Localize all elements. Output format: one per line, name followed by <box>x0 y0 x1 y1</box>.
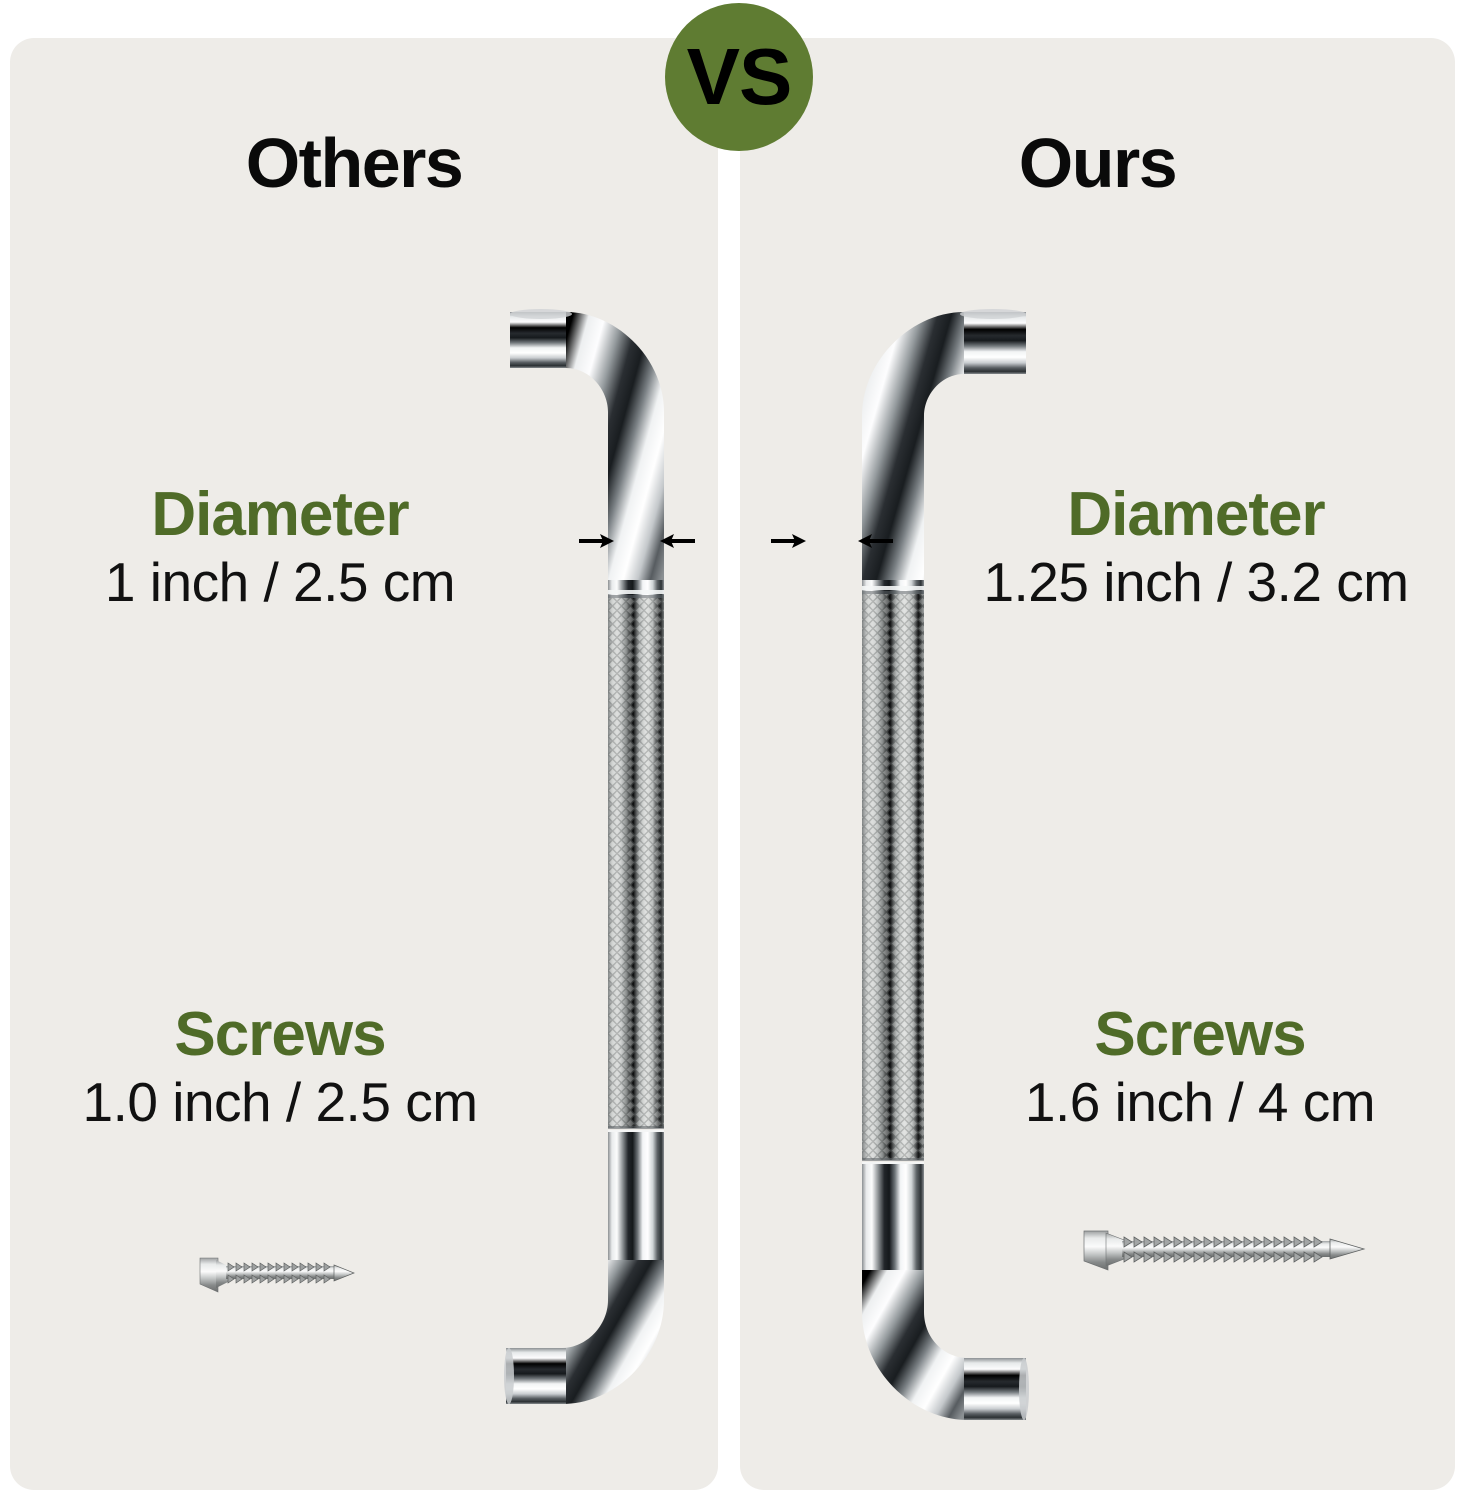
vs-badge: VS <box>665 3 813 151</box>
grab-bar-others <box>500 300 730 1440</box>
spec-screws-ours-title: Screws <box>965 1002 1435 1068</box>
screw-others <box>198 1254 356 1296</box>
column-header-others: Others <box>0 128 708 198</box>
spec-screws-others-title: Screws <box>20 1002 540 1068</box>
column-header-ours: Ours <box>740 128 1455 198</box>
spec-screws-ours-value: 1.6 inch / 4 cm <box>965 1072 1435 1134</box>
dimension-arrow-ours-left <box>770 528 806 554</box>
dimension-arrow-others-right <box>660 528 696 554</box>
comparison-infographic: VS Others Ours Diameter 1 inch / 2.5 cm … <box>0 0 1465 1500</box>
knurled-grip-others <box>608 598 664 1128</box>
vs-badge-label: VS <box>687 37 792 117</box>
spec-diameter-others: Diameter 1 inch / 2.5 cm <box>20 482 540 613</box>
spec-diameter-others-value: 1 inch / 2.5 cm <box>20 552 540 614</box>
dimension-arrow-others-left <box>578 528 614 554</box>
grab-bar-ours <box>792 300 1032 1490</box>
spec-screws-others-value: 1.0 inch / 2.5 cm <box>20 1072 540 1134</box>
spec-screws-ours: Screws 1.6 inch / 4 cm <box>965 1002 1435 1133</box>
screw-ours <box>1082 1228 1366 1274</box>
spec-diameter-others-title: Diameter <box>20 482 540 548</box>
dimension-arrow-ours-right <box>858 528 894 554</box>
spec-screws-others: Screws 1.0 inch / 2.5 cm <box>20 1002 540 1133</box>
knurled-grip-ours <box>862 594 924 1160</box>
